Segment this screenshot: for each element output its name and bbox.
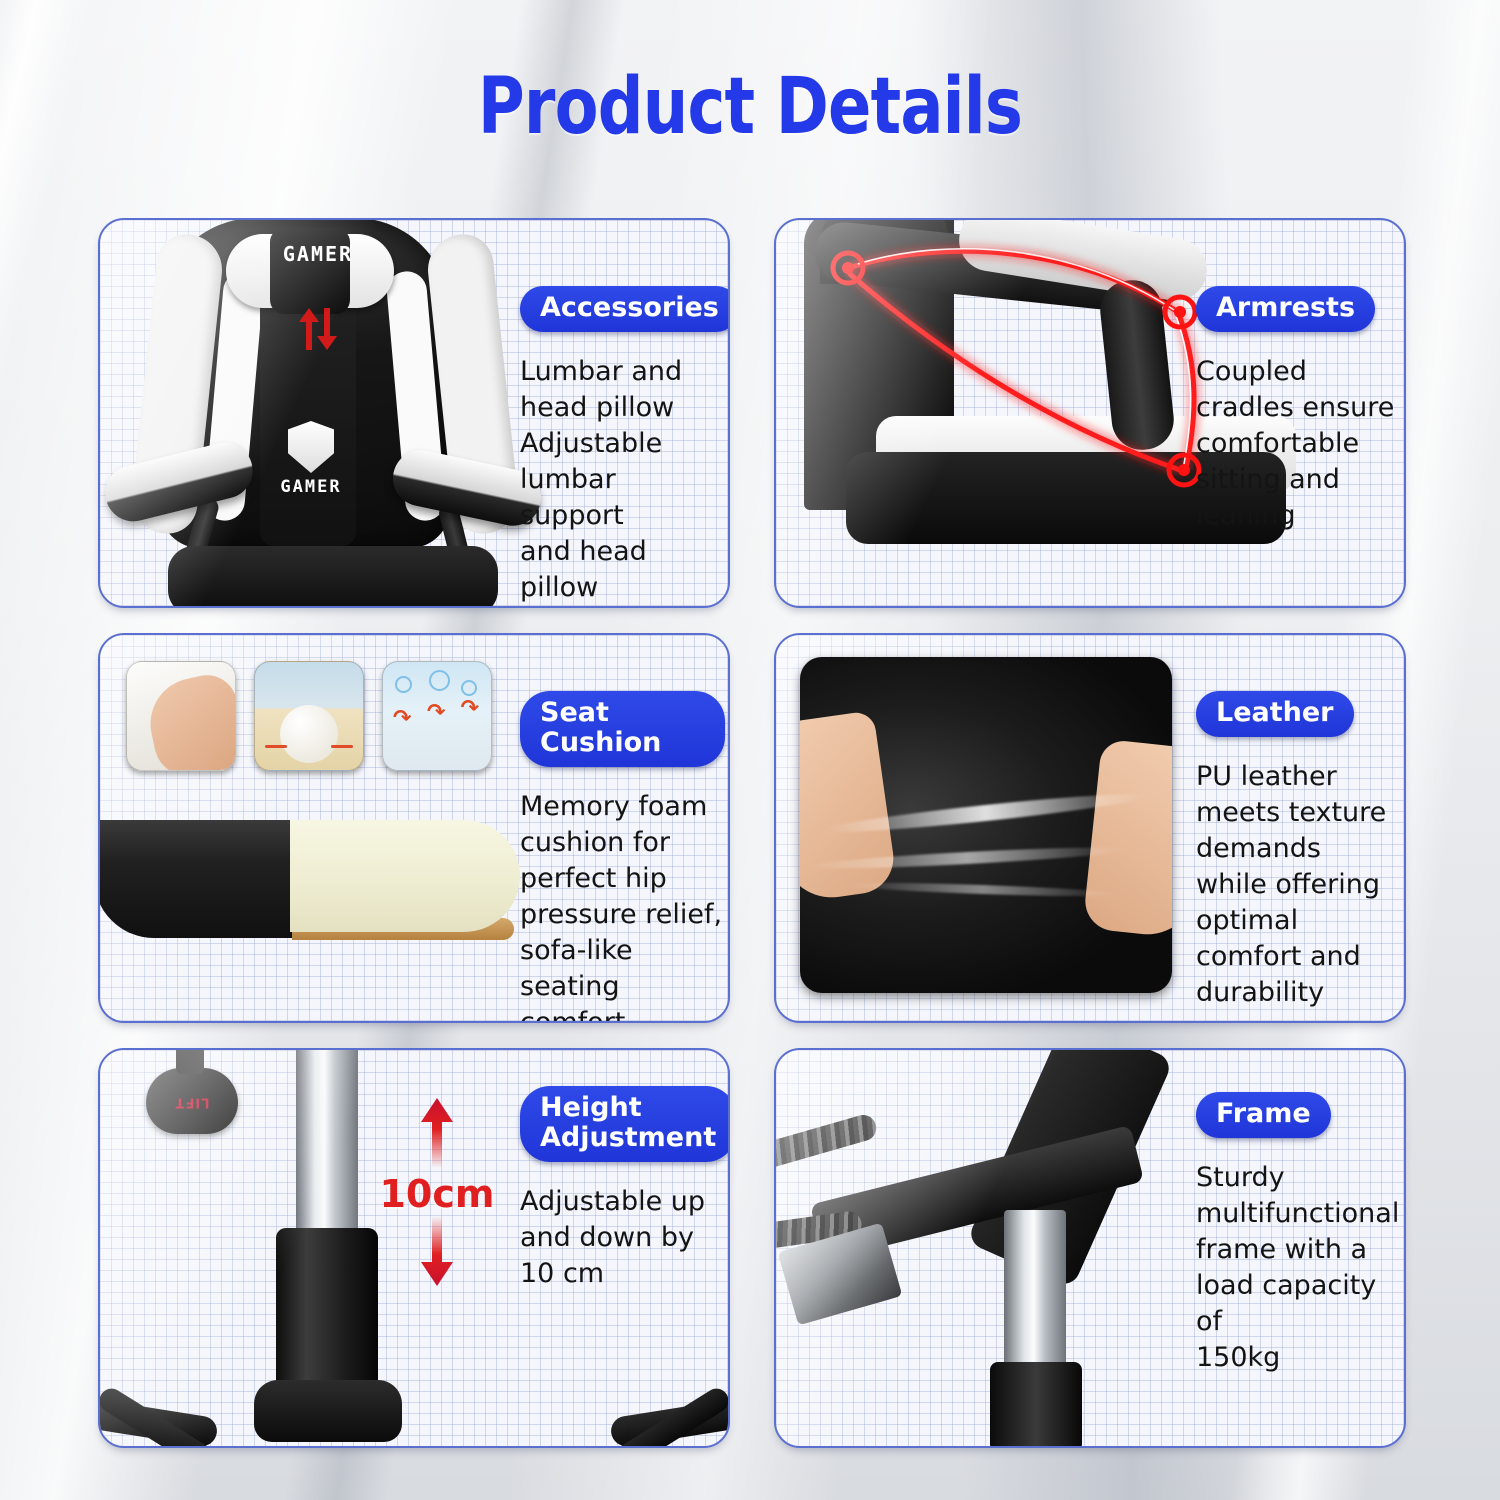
badge-seat-cushion: Seat Cushion [520,691,725,767]
panel-height-adjustment-text: Height Adjustment Adjustable up and down… [520,1086,725,1292]
description-height-adjustment: Adjustable up and down by 10 cm [520,1184,725,1292]
chrome-piston [296,1048,358,1232]
arrow-up-icon [415,1098,459,1168]
details-grid: GAMER GAMER Accessories [98,218,1406,1448]
lift-lever-label: LIFT [175,1095,210,1110]
badge-accessories: Accessories [520,286,730,332]
gas-cylinder-body [276,1228,378,1398]
panel-leather: Leather PU leather meets texture demands… [774,633,1406,1023]
description-leather: PU leather meets texture demands while o… [1196,759,1401,1010]
thumb-pressure-relief-ball [254,661,364,771]
description-armrests: Coupled cradles ensure comfortable sitti… [1196,354,1396,534]
panel-leather-text: Leather PU leather meets texture demands… [1196,691,1401,1011]
panel-accessories: GAMER GAMER Accessories [98,218,730,608]
panel-seat-cushion-text: Seat Cushion Memory foam cushion for per… [520,691,725,1023]
foam-feature-thumbnails: ↷ ↷ ↷ [126,661,492,771]
arrow-down-icon [415,1216,459,1286]
thumb-hand-press-foam [126,661,236,771]
memory-foam-cushion-cutaway-image [98,820,514,950]
panel-armrests: Armrests Coupled cradles ensure comforta… [774,218,1406,608]
badge-armrests: Armrests [1196,286,1375,332]
lumbar-pillow-logo: GAMER [258,421,364,533]
five-star-base-hub [254,1380,402,1442]
page-title: Product Details [135,62,1365,152]
panel-accessories-text: Accessories Lumbar and head pillow Adjus… [520,286,720,608]
height-measurement: 10cm [372,1098,502,1290]
description-seat-cushion: Memory foam cushion for perfect hip pres… [520,789,725,1023]
headrest-brand-text: GAMER [283,242,353,266]
badge-leather: Leather [1196,691,1354,737]
panel-armrests-text: Armrests Coupled cradles ensure comforta… [1196,286,1396,534]
panel-frame-text: Frame Sturdy multifunctional frame with … [1196,1092,1401,1376]
badge-frame: Frame [1196,1092,1331,1138]
up-down-arrows-icon [295,308,341,350]
thumb-breathable-mesh: ↷ ↷ ↷ [382,661,492,771]
description-accessories: Lumbar and head pillow Adjustable lumbar… [520,354,720,608]
pu-leather-photo [800,657,1172,993]
shield-icon [288,421,334,473]
lumbar-brand-text: GAMER [258,477,364,497]
lift-lever: LIFT [146,1068,238,1134]
panel-seat-cushion: ↷ ↷ ↷ Seat Cushion Memory foam cushion f… [98,633,730,1023]
badge-height-adjustment: Height Adjustment [520,1086,730,1162]
panel-height-adjustment: LIFT 10cm [98,1048,730,1448]
height-value-label: 10cm [372,1172,502,1216]
description-frame: Sturdy multifunctional frame with a load… [1196,1160,1401,1375]
gaming-chair-front-image: GAMER GAMER [108,218,528,608]
panel-frame: Frame Sturdy multifunctional frame with … [774,1048,1406,1448]
